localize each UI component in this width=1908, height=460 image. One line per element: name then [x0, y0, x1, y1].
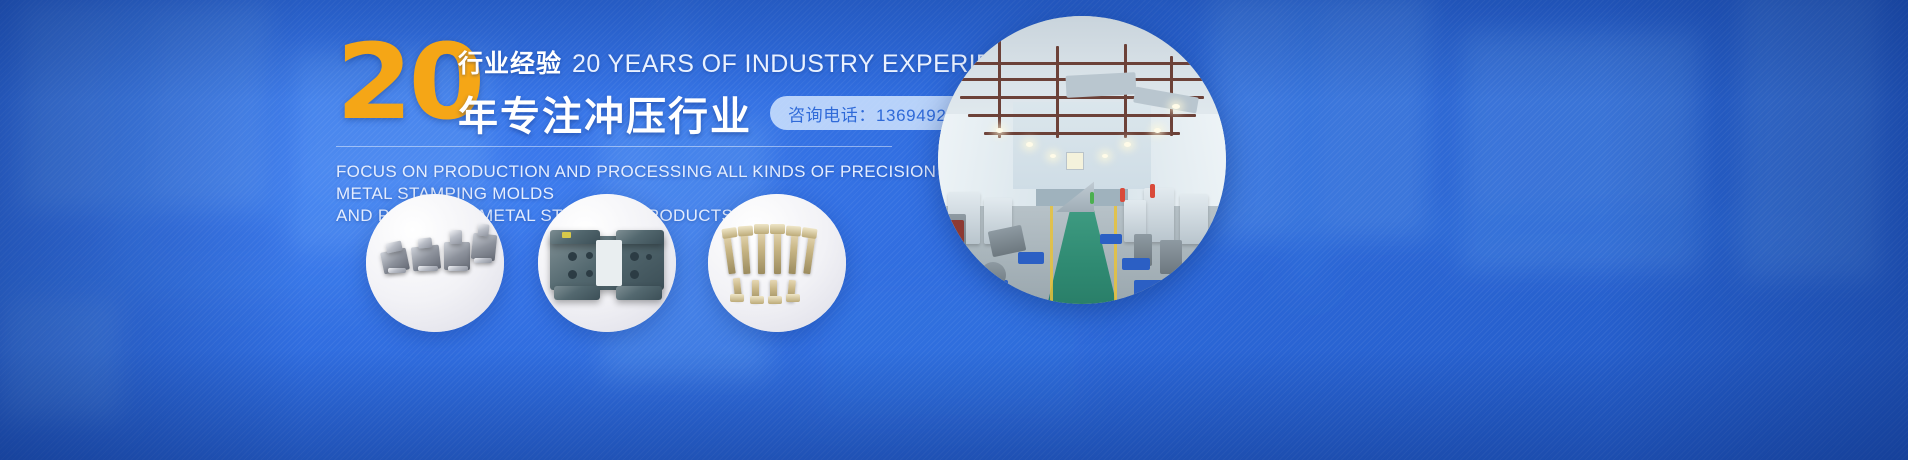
- product-circle-connectors: [366, 194, 504, 332]
- mold-parts-group: [538, 194, 676, 332]
- divider-rule: [336, 146, 892, 147]
- product-circle-pins: [708, 194, 846, 332]
- promo-banner: 20 行业经验 20 YEARS OF INDUSTRY EXPERIENCE …: [0, 0, 1908, 460]
- headline-cn-main: 年专注冲压行业: [458, 84, 752, 142]
- experience-cn-label: 行业经验: [458, 44, 562, 80]
- pin-parts-group: [708, 194, 846, 332]
- product-circle-mold: [538, 194, 676, 332]
- photo-aisle-line-left: [1050, 206, 1053, 304]
- factory-photo-circle: [938, 16, 1226, 304]
- photo-aisle-line-right: [1114, 206, 1117, 304]
- connector-parts-group: [366, 194, 504, 332]
